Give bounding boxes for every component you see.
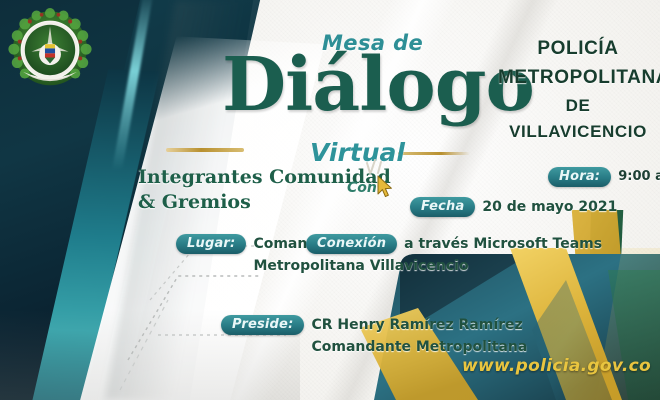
value-hora: 9:00 a.m. bbox=[618, 169, 660, 184]
field-conexion: Conexión a través Microsoft Teams bbox=[306, 234, 602, 256]
headline-line-2: METROPOLITANA bbox=[498, 63, 658, 92]
policia-crest-icon bbox=[8, 8, 92, 92]
title-con: Con bbox=[347, 180, 377, 196]
field-preside: Preside: CR Henry Ramírez Ramírez Comand… bbox=[221, 315, 527, 358]
value-conexion: a través Microsoft Teams bbox=[404, 236, 602, 252]
event-poster: Mesa de Diálogo Virtual Con POLICÍA METR… bbox=[0, 0, 660, 400]
value-fecha: 20 de mayo 2021 bbox=[482, 199, 617, 215]
footer-url[interactable]: www.policia.gov.co bbox=[462, 356, 651, 376]
label-fecha: Fecha bbox=[410, 197, 475, 217]
label-conexion: Conexión bbox=[306, 234, 397, 254]
value-lugar-line-2: Metropolitana Villavicencio bbox=[253, 256, 468, 278]
value-preside-name: CR Henry Ramírez Ramírez bbox=[311, 317, 522, 333]
field-fecha: Fecha 20 de mayo 2021 bbox=[410, 197, 617, 219]
label-lugar: Lugar: bbox=[176, 234, 246, 254]
field-hora: Hora: 9:00 a.m. bbox=[548, 167, 660, 187]
label-hora: Hora: bbox=[548, 167, 611, 187]
gold-divider-right bbox=[398, 152, 470, 155]
headline-line-3: DE VILLAVICENCIO bbox=[498, 93, 658, 146]
headline-block: POLICÍA METROPOLITANA DE VILLAVICENCIO bbox=[498, 34, 658, 146]
label-preside: Preside: bbox=[221, 315, 304, 335]
mouse-pointer-icon bbox=[376, 175, 394, 199]
title-main: Diálogo bbox=[222, 50, 534, 120]
headline-line-1: POLICÍA bbox=[498, 34, 658, 63]
gold-divider-left bbox=[166, 148, 244, 152]
